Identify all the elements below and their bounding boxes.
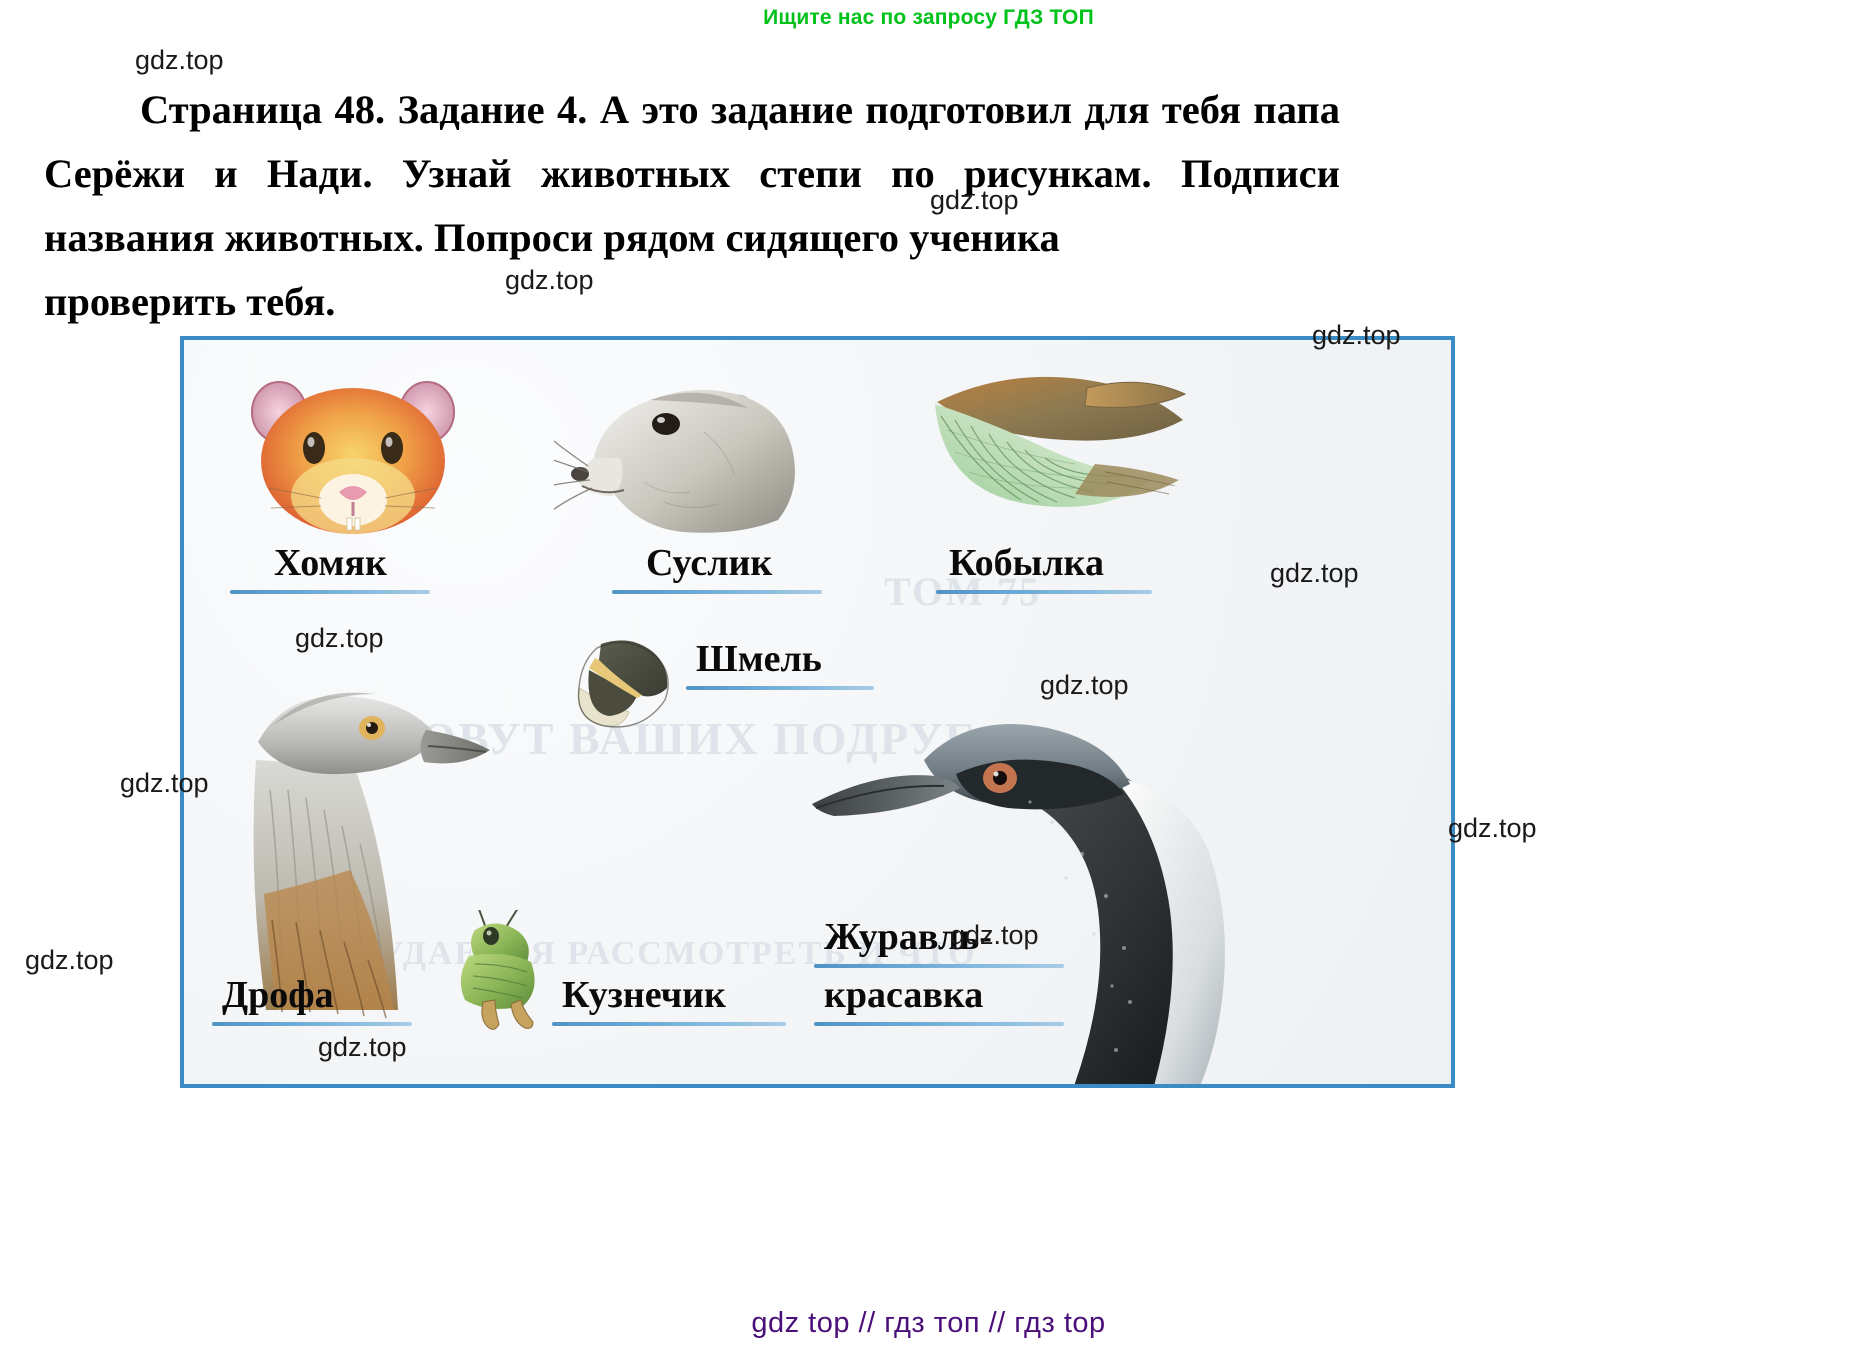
bumblebee-illustration	[569, 630, 679, 730]
rule-zhuravl-1[interactable]	[814, 964, 1064, 968]
rule-kobylka[interactable]	[936, 590, 1152, 594]
watermark: gdz.top	[135, 45, 224, 76]
watermark: gdz.top	[1270, 558, 1359, 589]
watermark: gdz.top	[1448, 813, 1537, 844]
rule-shmel[interactable]	[686, 686, 874, 690]
ground-squirrel-illustration	[554, 362, 814, 542]
watermark: gdz.top	[950, 920, 1039, 951]
demoiselle-crane-illustration	[794, 690, 1254, 1088]
label-kobylka[interactable]: Кобылка	[949, 544, 1104, 582]
label-homyak[interactable]: Хомяк	[274, 544, 387, 582]
task-heading-line-1: Страница 48. Задание 4. А это задание по…	[140, 87, 1241, 132]
label-shmel[interactable]: Шмель	[696, 640, 822, 678]
grasshopper-illustration	[439, 910, 569, 1035]
illustration-panel: ТОМ 75 ЗОВУТ ВАШИХ ПОДРУГ УДАЕТСЯ РАССМО…	[180, 336, 1455, 1088]
label-drofa[interactable]: Дрофа	[222, 976, 334, 1014]
watermark: gdz.top	[120, 768, 209, 799]
task-heading-line-4: проверить тебя.	[44, 270, 1340, 334]
watermark: gdz.top	[318, 1032, 407, 1063]
watermark: gdz.top	[505, 265, 594, 296]
label-zhuravl-line2[interactable]: красавка	[824, 976, 983, 1014]
rule-homyak[interactable]	[230, 590, 430, 594]
label-kuznechik[interactable]: Кузнечик	[562, 976, 726, 1014]
watermark: gdz.top	[930, 185, 1019, 216]
grasshopper-wing-illustration	[899, 360, 1209, 525]
page-root: Ищите нас по запросу ГДЗ ТОП Страница 48…	[0, 0, 1857, 1354]
watermark: gdz.top	[295, 623, 384, 654]
rule-zhuravl-2[interactable]	[814, 1022, 1064, 1026]
task-heading: Страница 48. Задание 4. А это задание по…	[44, 78, 1340, 334]
footer-links[interactable]: gdz top // гдз топ // гдз top	[0, 1307, 1857, 1340]
watermark: gdz.top	[1312, 320, 1401, 351]
rule-drofa[interactable]	[212, 1022, 412, 1026]
hamster-illustration	[239, 368, 469, 538]
watermark: gdz.top	[1040, 670, 1129, 701]
rule-suslik[interactable]	[612, 590, 822, 594]
rule-kuznechik[interactable]	[552, 1022, 786, 1026]
promo-banner: Ищите нас по запросу ГДЗ ТОП	[0, 6, 1857, 30]
label-suslik[interactable]: Суслик	[646, 544, 772, 582]
watermark: gdz.top	[25, 945, 114, 976]
